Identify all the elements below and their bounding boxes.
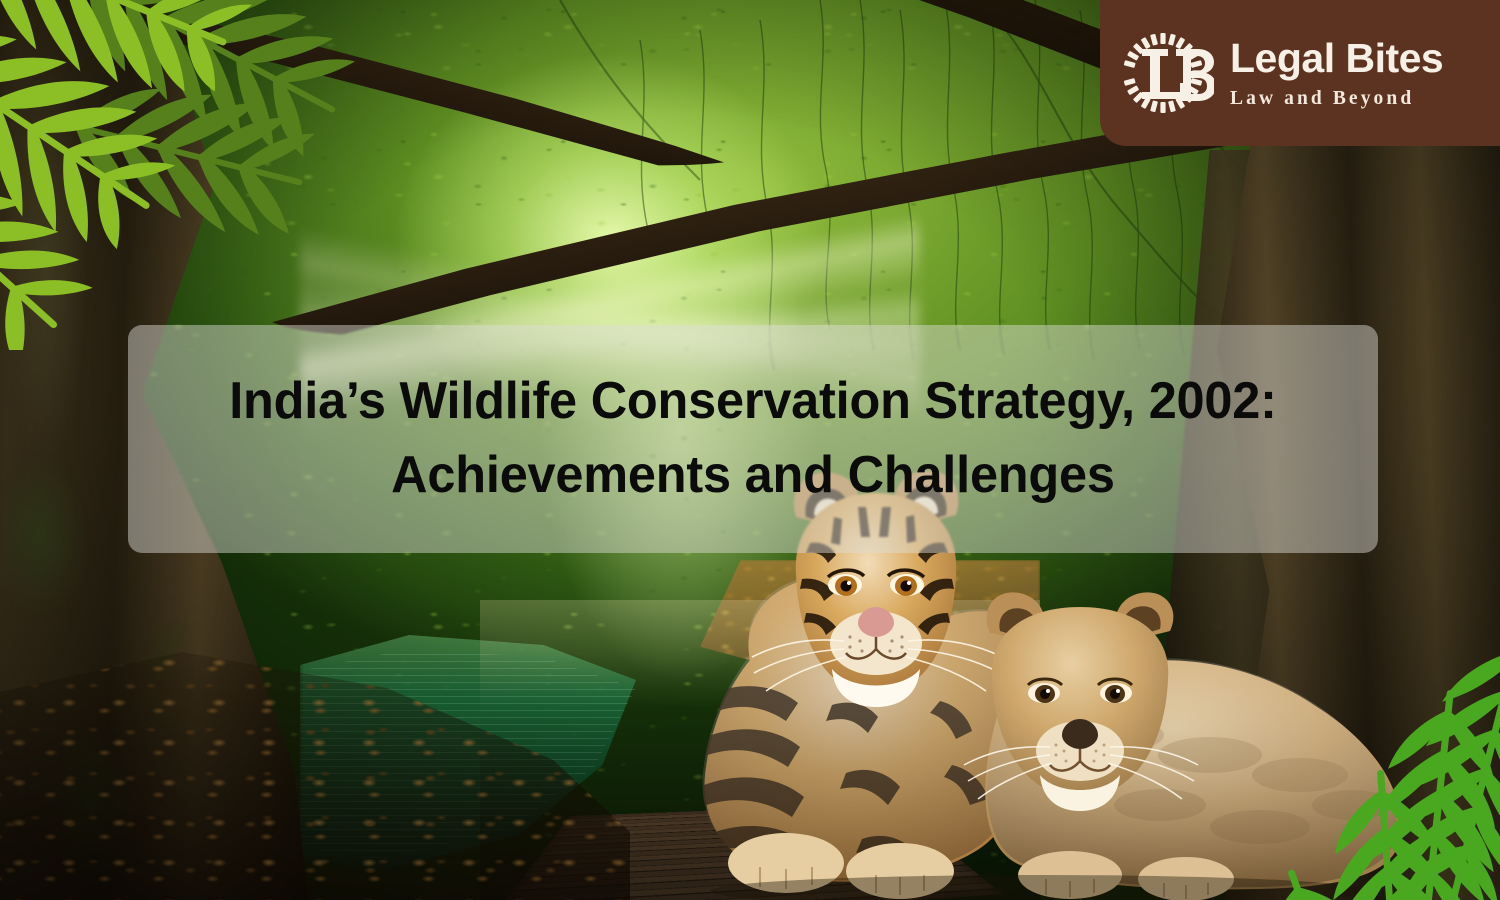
fern-frond-decor-bottom-right xyxy=(1220,570,1500,900)
palm-frond-decor-top-left xyxy=(0,0,400,350)
brand-tagline: Law and Beyond xyxy=(1230,89,1443,109)
title-overlay-panel: India’s Wildlife Conservation Strategy, … xyxy=(128,325,1378,553)
brand-header-bar: Legal Bites Law and Beyond xyxy=(1100,0,1500,146)
banner-image: India’s Wildlife Conservation Strategy, … xyxy=(0,0,1500,900)
page-title: India’s Wildlife Conservation Strategy, … xyxy=(202,365,1304,513)
brand-wordmark: Legal Bites Law and Beyond xyxy=(1230,38,1443,109)
legal-bites-logo-icon xyxy=(1118,23,1214,123)
brand-name: Legal Bites xyxy=(1230,38,1443,79)
